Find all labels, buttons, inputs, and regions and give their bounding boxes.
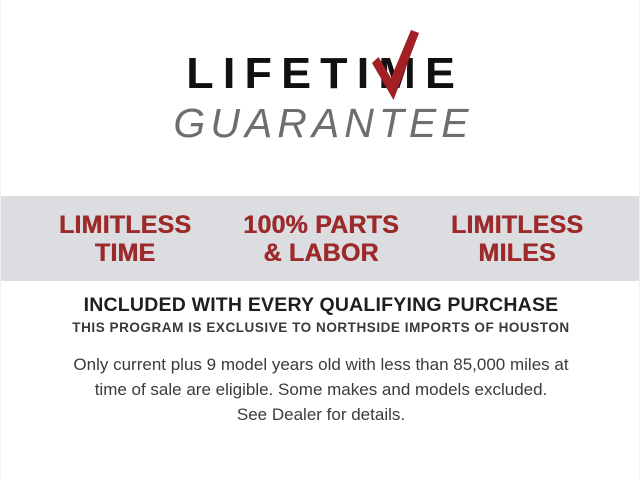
details-headline: INCLUDED WITH EVERY QUALIFYING PURCHASE — [1, 294, 640, 316]
feature-line-2: MILES — [419, 239, 615, 267]
feature-banner: LIMITLESS TIME 100% PARTS & LABOR LIMITL… — [1, 196, 640, 281]
fineprint-line: See Dealer for details. — [1, 402, 640, 427]
details-fineprint: Only current plus 9 model years old with… — [1, 352, 640, 427]
lifetime-guarantee-ad: LIFETIME GUARANTEE LIMITLESS TIME 100% P… — [0, 0, 640, 480]
feature-line-1: LIMITLESS — [27, 211, 223, 239]
fineprint-line: Only current plus 9 model years old with… — [1, 352, 640, 377]
details-block: INCLUDED WITH EVERY QUALIFYING PURCHASE … — [1, 294, 640, 427]
feature-line-1: 100% PARTS — [223, 211, 419, 239]
logo-title-lifetime: LIFETIME — [165, 52, 476, 96]
feature-column-parts-labor: 100% PARTS & LABOR — [223, 211, 419, 267]
feature-line-2: & LABOR — [223, 239, 419, 267]
logo-lockup: LIFETIME GUARANTEE — [1, 52, 640, 144]
logo-title-wrap: LIFETIME GUARANTEE — [168, 52, 473, 144]
feature-line-1: LIMITLESS — [419, 211, 615, 239]
feature-line-2: TIME — [27, 239, 223, 267]
feature-column-limitless-miles: LIMITLESS MILES — [419, 211, 615, 267]
logo-subtitle-guarantee: GUARANTEE — [168, 103, 473, 144]
fineprint-line: time of sale are eligible. Some makes an… — [1, 377, 640, 402]
feature-column-limitless-time: LIMITLESS TIME — [27, 211, 223, 267]
details-subheadline: THIS PROGRAM IS EXCLUSIVE TO NORTHSIDE I… — [1, 320, 640, 336]
